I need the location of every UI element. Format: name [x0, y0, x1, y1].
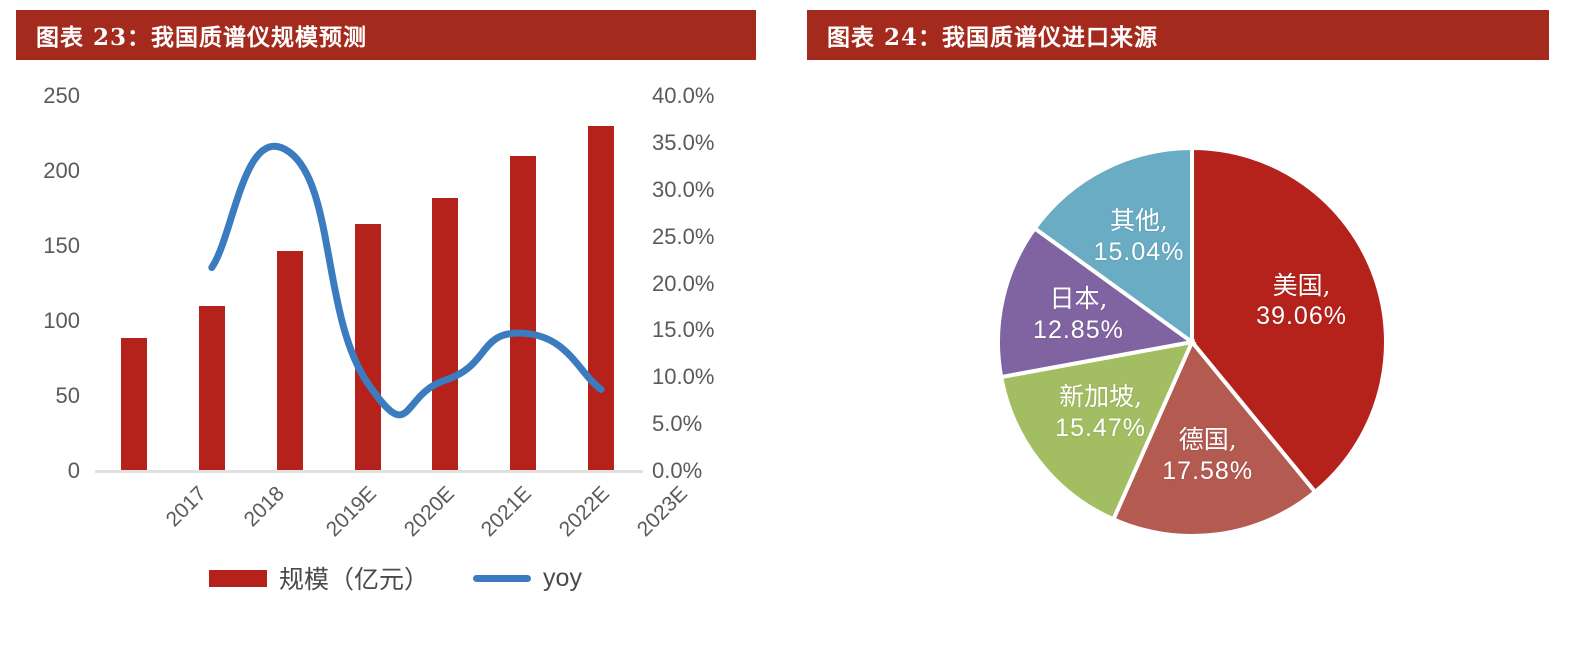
- figure-23-title: 图表 23：我国质谱仪规模预测: [16, 10, 756, 60]
- right-axis-tick: 20.0%: [652, 271, 742, 297]
- pie-label-日本: 日本,12.85%: [998, 284, 1158, 345]
- pie-slices: [791, 70, 1582, 644]
- pie-label-value: 17.58%: [1128, 456, 1288, 487]
- pie-label-value: 39.06%: [1222, 301, 1382, 332]
- right-axis-tick: 25.0%: [652, 224, 742, 250]
- legend-label-scale: 规模（亿元）: [279, 560, 429, 596]
- x-axis-label-2020E: 2020E: [399, 482, 459, 542]
- left-axis-tick: 150: [0, 233, 80, 259]
- figure-24-title: 图表 24：我国质谱仪进口来源: [807, 10, 1549, 60]
- category-axis-line: [95, 470, 643, 473]
- yoy-line-series: [95, 96, 640, 471]
- left-axis-tick: 100: [0, 308, 80, 334]
- x-axis-label-2018: 2018: [239, 482, 289, 532]
- x-axis-label-2022E: 2022E: [555, 482, 615, 542]
- legend-swatch-bar-icon: [209, 570, 267, 587]
- legend-item-scale[interactable]: 规模（亿元）: [209, 560, 429, 596]
- legend-swatch-line-icon: [473, 575, 531, 582]
- legend-item-yoy[interactable]: yoy: [473, 564, 582, 593]
- pie-label-美国: 美国,39.06%: [1222, 271, 1382, 332]
- x-axis-label-2017: 2017: [162, 482, 212, 532]
- pie-label-name: 新加坡,: [1021, 382, 1181, 413]
- mass-spec-import-sources-chart: 美国,39.06%德国,17.58%新加坡,15.47%日本,12.85%其他,…: [791, 70, 1582, 644]
- legend-label-yoy: yoy: [543, 564, 582, 593]
- pie-label-value: 15.47%: [1021, 413, 1181, 444]
- left-axis-tick: 200: [0, 158, 80, 184]
- right-axis-tick: 10.0%: [652, 364, 742, 390]
- pie-label-name: 日本,: [998, 284, 1158, 315]
- pie-label-value: 12.85%: [998, 315, 1158, 346]
- x-axis-label-2019E: 2019E: [321, 482, 381, 542]
- figure-23-panel: 图表 23：我国质谱仪规模预测 050100150200250 0.0%5.0%…: [0, 0, 791, 644]
- right-axis-tick: 35.0%: [652, 130, 742, 156]
- right-axis-tick: 30.0%: [652, 177, 742, 203]
- left-axis-tick: 0: [0, 458, 80, 484]
- pie-label-name: 其他,: [1059, 206, 1219, 237]
- x-axis-label-2023E: 2023E: [633, 482, 693, 542]
- pie-label-name: 美国,: [1222, 271, 1382, 302]
- x-axis-label-2021E: 2021E: [477, 482, 537, 542]
- right-axis-tick: 5.0%: [652, 411, 742, 437]
- pie-label-新加坡: 新加坡,15.47%: [1021, 382, 1181, 443]
- right-axis-tick: 40.0%: [652, 83, 742, 109]
- right-axis-tick: 15.0%: [652, 317, 742, 343]
- figure-24-panel: 图表 24：我国质谱仪进口来源 美国,39.06%德国,17.58%新加坡,15…: [791, 0, 1582, 644]
- pie-label-其他: 其他,15.04%: [1059, 206, 1219, 267]
- right-axis-tick: 0.0%: [652, 458, 742, 484]
- plot-area: [95, 96, 640, 471]
- mass-spec-market-forecast-chart: 050100150200250 0.0%5.0%10.0%15.0%20.0%2…: [0, 70, 791, 644]
- pie-label-value: 15.04%: [1059, 237, 1219, 268]
- chart-legend: 规模（亿元） yoy: [0, 560, 791, 596]
- yoy-line-path: [212, 146, 601, 415]
- left-axis-tick: 50: [0, 383, 80, 409]
- left-axis-tick: 250: [0, 83, 80, 109]
